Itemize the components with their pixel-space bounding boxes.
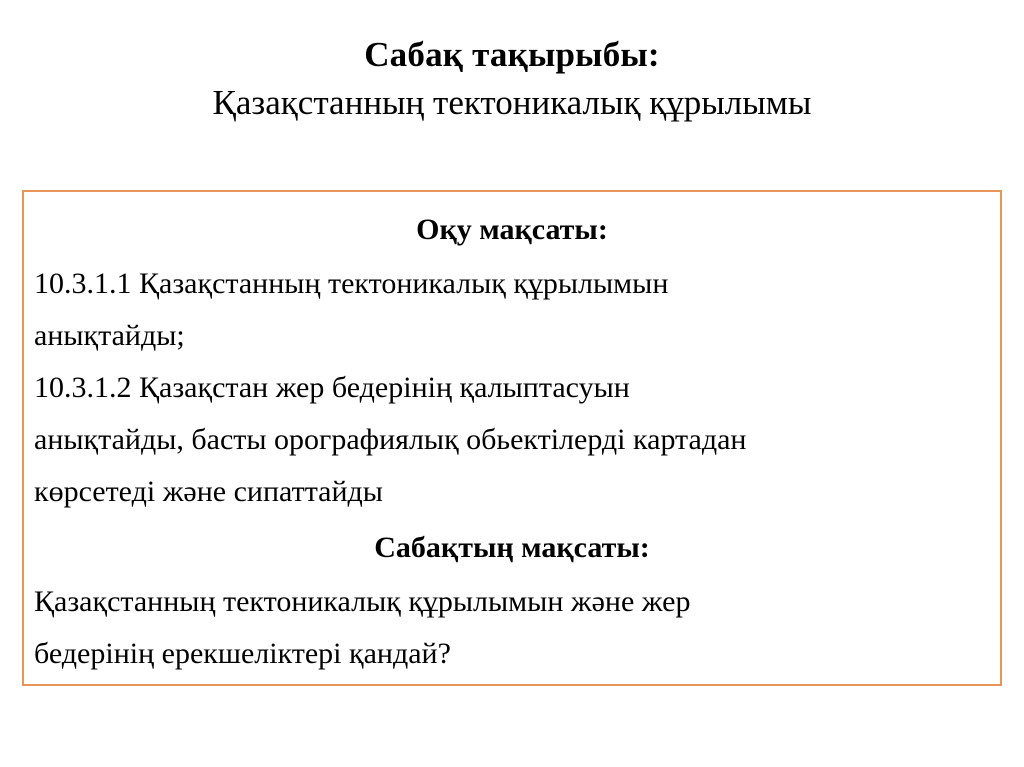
objective-paragraph-2-line-2: анықтайды, басты орографиялық обьектілер… [34, 414, 992, 466]
page-title-primary: Сабақ тақырыбы: [0, 32, 1024, 78]
objective-paragraph-1: 10.3.1.1 Қазақстанның тектоникалық құрыл… [32, 258, 992, 362]
slide-canvas: Сабақ тақырыбы: Қазақстанның тектоникалы… [0, 0, 1024, 767]
objective-paragraph-2-line-3: көрсетеді және сипаттайды [34, 466, 992, 518]
slide-title: Сабақ тақырыбы: Қазақстанның тектоникалы… [0, 32, 1024, 128]
objective-paragraph-1-line-2: анықтайды; [34, 310, 992, 362]
objective-paragraph-1-line-1: 10.3.1.1 Қазақстанның тектоникалық құрыл… [34, 258, 992, 310]
lesson-goal-paragraph: Қазақстанның тектоникалық құрылымын және… [32, 576, 992, 680]
lesson-goal-heading: Сабақтың мақсаты: [32, 526, 992, 570]
lesson-goal-line-2: бедерінің ерекшеліктері қандай? [34, 628, 992, 680]
learning-objective-heading: Оқу мақсаты: [32, 208, 992, 252]
page-title-secondary: Қазақстанның тектоникалық құрылымы [0, 78, 1024, 128]
objectives-box: Оқу мақсаты: 10.3.1.1 Қазақстанның текто… [22, 190, 1002, 686]
lesson-goal-line-1: Қазақстанның тектоникалық құрылымын және… [34, 576, 992, 628]
objective-paragraph-2-line-1: 10.3.1.2 Қазақстан жер бедерінің қалыпта… [34, 362, 992, 414]
objective-paragraph-2: 10.3.1.2 Қазақстан жер бедерінің қалыпта… [32, 362, 992, 518]
